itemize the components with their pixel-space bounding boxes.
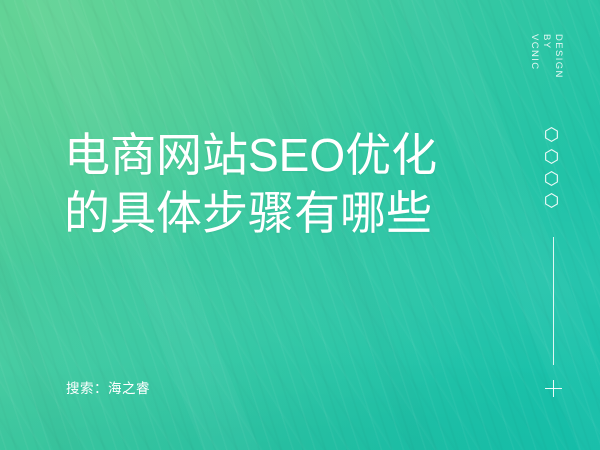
hexagon-outline-icon <box>545 149 558 164</box>
hexagon-outline-icon <box>545 193 558 208</box>
plus-icon <box>545 380 562 397</box>
page-title: 电商网站SEO优化 的具体步骤有哪些 <box>64 126 437 242</box>
poster-canvas: DESIGN BY VCNIC 电商网站SEO优化 的具体步骤有哪些 搜索：海之… <box>0 0 600 450</box>
title-line-2: 的具体步骤有哪些 <box>64 184 437 242</box>
brand-credit: DESIGN BY VCNIC <box>497 34 567 114</box>
hexagon-outline-icon <box>545 171 558 186</box>
brand-line-design: DESIGN <box>554 34 564 79</box>
brand-line-vcnic: VCNIC <box>530 34 540 71</box>
hexagon-outline-icon <box>545 127 558 142</box>
title-line-1: 电商网站SEO优化 <box>64 126 437 184</box>
brand-line-by: BY <box>542 34 552 49</box>
vertical-rule-divider <box>553 237 554 365</box>
search-source-label: 搜索：海之睿 <box>66 377 150 397</box>
hexagon-decoration-group <box>545 127 558 208</box>
